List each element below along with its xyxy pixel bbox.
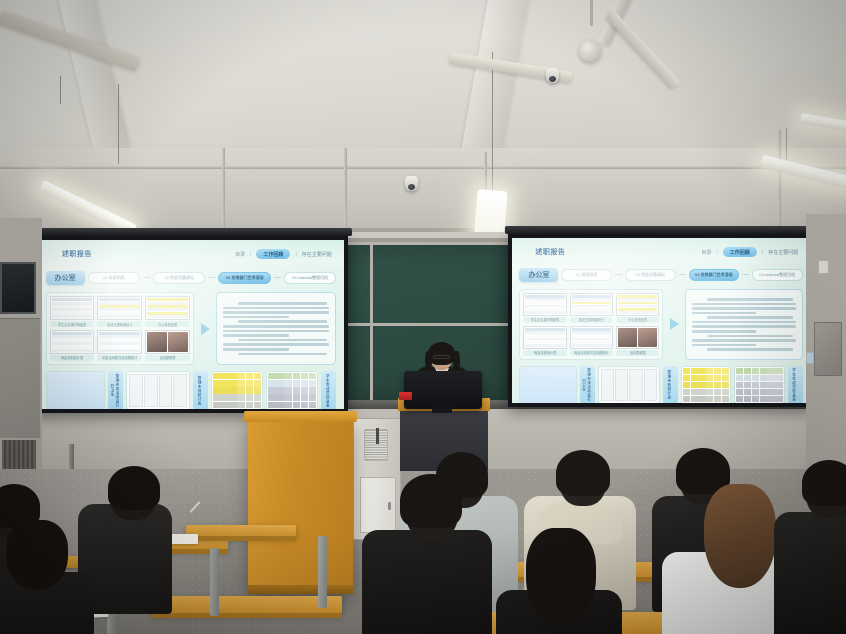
step-link-3-left [274,277,281,278]
thumb-image-2-right [570,293,613,316]
slide-body-left: 办公室 01 排班明表 02 例会设备改玩 03 安排部门艺术活动 04 mat… [46,269,337,406]
student-center-front-torso [362,530,492,634]
student-center-front-hair [400,474,462,528]
student-left-front-2-hair [6,520,68,590]
thumb-image-1-left [50,296,95,320]
chalkboard-divider-v [370,245,373,401]
student-white-coat-hair [704,484,776,588]
thumb-caption-2-right: 各班无课明细统计 [570,317,613,323]
step-04-left[interactable]: 04 material整理归档 [284,272,336,284]
presenter-hair [428,342,455,365]
nav-issues-left[interactable]: 存在主要问题 [302,251,332,258]
nav-sep-1-right: | [716,249,717,255]
step-link-1-right [615,274,622,275]
bottom-sheet-left[interactable] [126,371,190,409]
lectern[interactable] [248,419,353,594]
step-link-1-left [143,277,150,278]
slide-bottom-left: 整理安排活动室打扫卫生 整理未到统计表 [46,371,337,409]
presenter-monitor[interactable] [404,371,482,409]
bottom-grid-cool-left[interactable] [266,371,318,409]
bottom-grid-cool-right[interactable] [734,366,784,403]
step-link-2-right [679,274,686,275]
thumb-cell-2-right[interactable]: 各班无课明细统计 [570,293,613,323]
thumb-caption-5-right: 例会活动新次及到期统计 [570,350,613,356]
thumb-image-6-right [616,326,659,349]
thumb-cell-2-left[interactable]: 各班无课明细统计 [97,296,142,327]
bottom-label-right-left: 学生会成员信息表 [321,371,336,409]
thumb-image-6-left [145,330,190,354]
thumb-image-5-right [570,326,613,349]
nav-contents-left[interactable]: 目录 [235,251,245,258]
microphone-stand [376,428,379,444]
bottom-label-mid-left: 整理未到统计表 [193,371,208,409]
thumb-image-2-left [97,296,142,320]
student-back-1-hair [108,466,160,510]
thumb-caption-1-left: 学生点名课时明细表 [50,321,95,327]
arrow-right-icon-left [201,323,210,335]
thumb-cell-6-left[interactable]: 活动整理表 [145,330,190,361]
projector-screen-roller-left [30,228,352,236]
bottom-label-right-right: 学生会成员信息表 [788,366,803,403]
bottom-grid-yellow-right[interactable] [681,366,731,403]
light-hanger-1 [60,76,61,104]
thumb-caption-2-left: 各班无课明细统计 [97,321,142,327]
monitor-stand [432,407,452,413]
section-badge-left: 办公室 [46,271,85,285]
conduit-vertical-1 [222,148,225,232]
slide-title-left: 述职报告 [55,248,99,260]
thumb-image-4-right [523,326,566,349]
fan-pole [590,0,593,26]
light-hanger-3 [492,52,493,192]
bottom-doc-right[interactable] [519,366,577,403]
conduit-vertical-4 [778,130,781,230]
thumb-image-1-right [523,293,566,316]
slide-mid-right: 学生点名课时明细表 各班无课明细统计 办公室值班 [519,289,802,360]
thumb-image-3-right [616,293,659,316]
student-far-right-hair [802,460,846,506]
slide-steps-right: 办公室 01 排班明表 02 例会设备改玩 03 安排部门艺术活动 04 mat… [519,266,802,283]
slide-bottom-right: 整理安排活动室打扫卫生 整理未到统计表 [519,366,802,403]
slide-mid-left: 学生点名课时明细表 各班无课明细统计 办公室值班 [46,292,337,365]
thumb-caption-3-left: 办公室值班表 [145,321,190,327]
projector-screen-roller-right [505,226,817,234]
nav-work-review-right[interactable]: 工作回顾 [723,247,757,257]
nav-work-review-left[interactable]: 工作回顾 [256,249,290,259]
slide-header-left: 述职报告 目录 | 工作回顾 | 存在主要问题 [38,240,344,269]
lectern-base [248,585,353,594]
projection-screen-right[interactable]: 述职报告 目录 | 工作回顾 | 存在主要问题 办公室 01 排班明表 02 例… [508,234,814,407]
step-02-left[interactable]: 02 例会设备改玩 [153,272,205,284]
fan-hub [579,40,601,62]
nav-contents-right[interactable]: 目录 [701,249,711,256]
wall-conduit [0,166,846,169]
step-link-3-right [742,274,749,275]
thumb-cell-6-right[interactable]: 活动整理表 [616,326,659,356]
glasses-icon [433,355,450,359]
thumbnail-grid-left: 学生点名课时明细表 各班无课明细统计 办公室值班 [46,292,194,365]
light-hanger-2 [118,84,119,164]
thumb-cell-1-right[interactable]: 学生点名课时明细表 [523,293,566,323]
thumb-cell-4-left[interactable]: 例会未到统计表 [50,330,95,361]
nav-sep-1-left: | [250,251,251,257]
slide-left: 述职报告 目录 | 工作回顾 | 存在主要问题 办公室 01 排班明表 02 例… [38,240,344,409]
student-beige-hair [556,450,610,496]
summary-panel-left [216,292,336,365]
nav-issues-right[interactable]: 存在主要问题 [768,249,798,256]
thumb-cell-4-right[interactable]: 例会未到统计表 [523,326,566,356]
student-pink-front-hair [526,528,596,624]
slide-header-right: 述职报告 目录 | 工作回顾 | 存在主要问题 [512,238,810,266]
thumb-caption-4-right: 例会未到统计表 [523,350,566,356]
thumbnail-grid-right: 学生点名课时明细表 各班无课明细统计 办公室值班 [519,289,663,360]
slide-steps-left: 办公室 01 排班明表 02 例会设备改玩 03 安排部门艺术活动 04 mat… [46,269,337,287]
thumb-caption-4-left: 例会未到统计表 [50,355,95,361]
desk-frame-post-2 [210,548,219,616]
lectern-top [244,411,357,422]
wall-panel-icon[interactable] [806,352,814,364]
bottom-label-mid-right: 整理未到统计表 [663,366,678,403]
section-badge-right: 办公室 [519,268,558,282]
thumb-cell-1-left[interactable]: 学生点名课时明细表 [50,296,95,327]
slide-title-right: 述职报告 [528,246,572,258]
cabinet-knob-icon[interactable] [388,502,391,510]
nav-sep-2-right: | [762,249,763,255]
thumb-cell-3-left[interactable]: 办公室值班表 [145,296,190,327]
thumb-image-3-left [145,296,190,320]
thumb-cell-5-right[interactable]: 例会活动新次及到期统计 [570,326,613,356]
projection-screen-left[interactable]: 述职报告 目录 | 工作回顾 | 存在主要问题 办公室 01 排班明表 02 例… [34,236,348,413]
bottom-doc-left[interactable] [46,371,106,409]
nav-sep-2-left: | [295,251,296,257]
left-window [0,262,36,314]
step-01-right[interactable]: 01 排班明表 [561,269,612,281]
desk-frame-post-3 [318,536,327,608]
thumb-caption-5-left: 例会活动新次及到期统计 [97,355,142,361]
desk-left-row [152,596,342,614]
presenter-hair-left [425,351,432,370]
classroom-scene: 述职报告 目录 | 工作回顾 | 存在主要问题 办公室 01 排班明表 02 例… [0,0,846,634]
slide-right: 述职报告 目录 | 工作回顾 | 存在主要问题 办公室 01 排班明表 02 例… [512,238,810,403]
desk-mid-back [186,525,296,537]
slide-body-right: 办公室 01 排班明表 02 例会设备改玩 03 安排部门艺术活动 04 mat… [519,266,802,400]
cabinet-door[interactable] [360,477,396,533]
conduit-vertical-2 [344,148,347,232]
red-object-on-desk [399,392,412,400]
security-camera-wall [405,176,418,191]
bottom-sheet-right[interactable] [598,366,660,403]
thumb-image-4-left [50,330,95,354]
slide-nav-left: 目录 | 工作回顾 | 存在主要问题 [235,249,332,259]
flow-arrow-col-left [198,292,212,365]
summary-panel-right [685,289,802,360]
thumb-image-5-left [97,330,142,354]
step-02-right[interactable]: 02 例会设备改玩 [625,269,676,281]
wall-switch-icon[interactable] [818,260,829,274]
thumb-caption-3-right: 办公室值班表 [616,317,659,323]
wall-vent-panel [814,322,842,376]
presenter-hair-right [453,351,460,370]
step-04-right[interactable]: 04 material整理归档 [752,269,803,281]
arrow-right-icon-right [670,318,679,330]
flow-arrow-col-right [667,289,681,360]
chalkboard-divider-h [340,323,512,326]
security-camera-upper [546,68,559,83]
bottom-grid-yellow-left[interactable] [211,371,263,409]
thumb-cell-5-left[interactable]: 例会活动新次及到期统计 [97,330,142,361]
step-01-left[interactable]: 01 排班明表 [88,272,140,284]
paper-sheet-2 [170,534,198,544]
step-03-left[interactable]: 03 安排部门艺术活动 [218,272,270,284]
thumb-caption-6-left: 活动整理表 [145,355,190,361]
thumb-cell-3-right[interactable]: 办公室值班表 [616,293,659,323]
bottom-label-left: 整理安排活动室打扫卫生 [108,371,123,409]
step-03-right[interactable]: 03 安排部门艺术活动 [689,269,740,281]
thumb-caption-1-right: 学生点名课时明细表 [523,317,566,323]
bottom-label-left-right: 整理安排活动室打扫卫生 [580,366,595,403]
slide-nav-right: 目录 | 工作回顾 | 存在主要问题 [701,247,798,257]
thumb-caption-6-right: 活动整理表 [616,350,659,356]
left-wall-tiles [0,318,40,438]
student-far-right-torso [774,512,846,634]
step-link-2-left [208,277,215,278]
